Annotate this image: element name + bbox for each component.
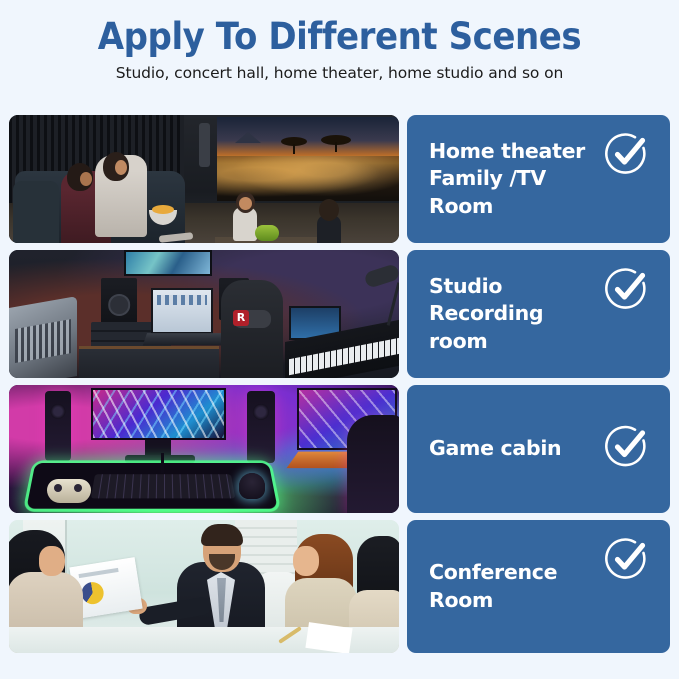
couch-arm — [13, 181, 59, 243]
mountain-shape — [235, 132, 261, 143]
studio-photo: R — [9, 250, 399, 378]
conference-room-photo — [9, 520, 399, 653]
game-controller — [47, 479, 91, 503]
monitor-stand — [145, 440, 171, 456]
scene-card-label: Conference Room — [429, 559, 557, 613]
acacia-tree-icon — [321, 135, 351, 145]
check-circle-icon — [604, 424, 650, 475]
wall-tv — [124, 250, 212, 276]
person-woman-head — [103, 152, 129, 181]
gaming-monitor — [91, 388, 226, 440]
scene-card-label: Studio Recording room — [429, 273, 599, 354]
daw-screen — [151, 288, 213, 334]
studio-desk — [79, 346, 219, 378]
person-child-head — [236, 192, 255, 213]
home-theater-photo — [9, 115, 399, 243]
presenter-hair — [201, 524, 243, 546]
studio-monitor-speaker-left — [101, 278, 137, 326]
scene-row: R Studio Recording room — [0, 250, 679, 378]
scene-row: Game cabin — [0, 385, 679, 513]
midi-controller — [143, 333, 226, 345]
projector-screen — [217, 117, 399, 201]
acacia-tree-icon — [281, 137, 307, 146]
scene-row: Conference Room — [0, 520, 679, 653]
check-circle-icon — [604, 536, 650, 587]
rgb-keyboard — [91, 474, 235, 498]
mixing-console — [9, 296, 77, 378]
wall-sconce — [199, 123, 210, 167]
scene-card-home-theater[interactable]: Home theater Family /TV Room — [407, 115, 670, 243]
attendee-right-face — [293, 546, 319, 576]
page-title: Apply To Different Scenes — [27, 16, 652, 57]
chair-logo: R — [233, 310, 249, 326]
paper-sheet — [305, 622, 352, 653]
gaming-chair — [221, 280, 283, 378]
monitor-base — [125, 455, 195, 463]
tower-speaker-right — [247, 391, 275, 463]
gaming-chair — [347, 415, 399, 513]
scene-row: Home theater Family /TV Room — [0, 115, 679, 243]
scene-card-game-cabin[interactable]: Game cabin — [407, 385, 670, 513]
person-man-head — [67, 163, 93, 191]
gaming-setup-photo — [9, 385, 399, 513]
scene-card-label: Home theater Family /TV Room — [429, 138, 599, 219]
tower-speaker-left — [45, 391, 71, 461]
page-header: Apply To Different Scenes Studio, concer… — [0, 0, 679, 82]
page-subtitle: Studio, concert hall, home theater, home… — [0, 64, 679, 82]
check-circle-icon — [604, 266, 650, 317]
scene-card-studio[interactable]: Studio Recording room — [407, 250, 670, 378]
scene-rows: Home theater Family /TV Room — [0, 115, 679, 653]
attendee-left-face — [39, 546, 65, 576]
toy — [255, 225, 279, 241]
scenes-page: Apply To Different Scenes Studio, concer… — [0, 0, 679, 679]
scene-card-conference-room[interactable]: Conference Room — [407, 520, 670, 653]
person-child-back-head — [319, 199, 339, 221]
gaming-mouse — [239, 473, 265, 499]
check-circle-icon — [604, 131, 650, 182]
keyboard-cable — [161, 453, 164, 473]
scene-card-label: Game cabin — [429, 435, 561, 462]
